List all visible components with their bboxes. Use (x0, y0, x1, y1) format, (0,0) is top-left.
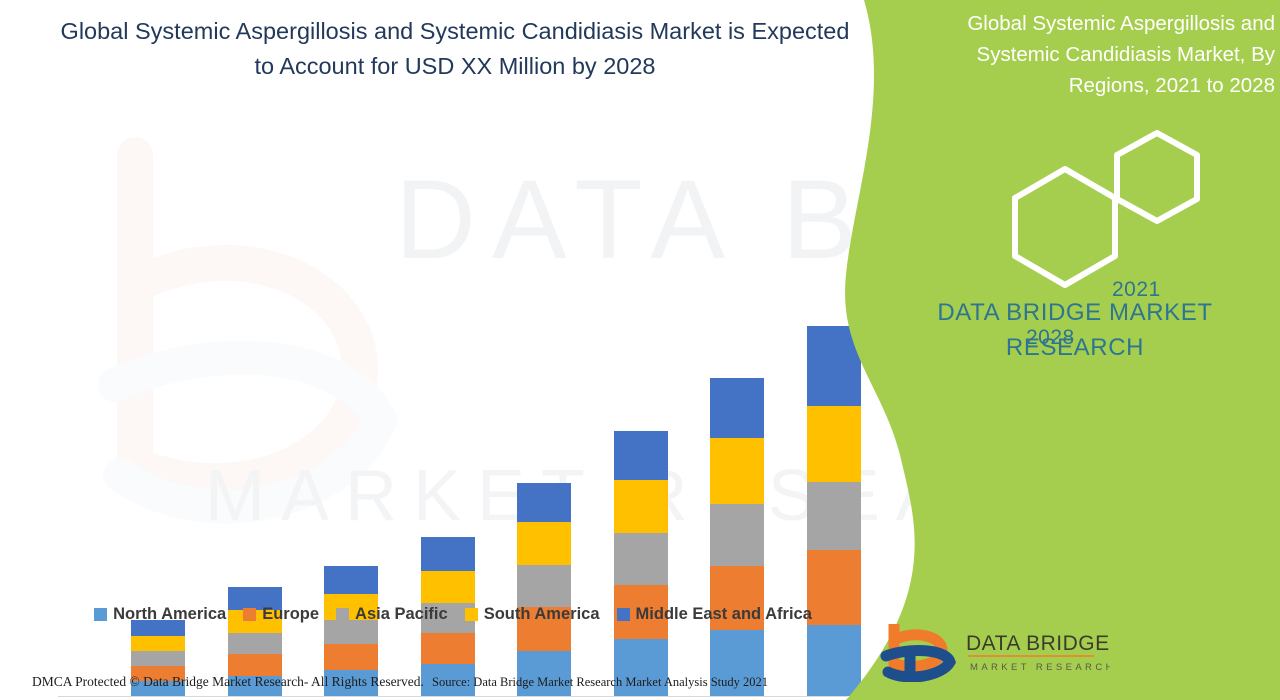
legend-swatch-icon (94, 608, 107, 621)
panel-content: Global Systemic Aspergillosis and System… (880, 0, 1280, 700)
panel-brand-line-1: DATA BRIDGE MARKET (880, 295, 1270, 330)
stacked-bar-chart: 20212022202320242025202620272028 (58, 150, 848, 550)
legend-label: South America (484, 605, 600, 624)
chart-legend: North AmericaEuropeAsia PacificSouth Ame… (58, 605, 848, 624)
legend-label: Asia Pacific (355, 605, 448, 624)
bar-segment-south-america (421, 571, 475, 603)
svg-text:MARKET RESEARCH: MARKET RESEARCH (970, 662, 1110, 673)
page-title: Global Systemic Aspergillosis and System… (60, 14, 850, 84)
legend-label: North America (113, 605, 226, 624)
bar-segment-asia-pacific (710, 504, 764, 566)
data-bridge-logo: DATA BRIDGE MARKET RESEARCH (880, 620, 1110, 682)
bar-segment-asia-pacific (228, 633, 282, 654)
hexagon-badges: 2021 2028 (880, 120, 1270, 295)
bar-segment-middle-east-and-africa (710, 378, 764, 438)
legend-swatch-icon (243, 608, 256, 621)
infographic-canvas: DATA BRIDGE MARKET RESEARCH 202120222023… (0, 0, 1280, 700)
bar-segment-europe (324, 644, 378, 670)
legend-item-north-america[interactable]: North America (94, 605, 226, 624)
bar-segment-europe (421, 633, 475, 664)
footer-source: Source: Data Bridge Market Research Mark… (432, 675, 768, 690)
legend-label: Europe (262, 605, 319, 624)
legend-swatch-icon (465, 608, 478, 621)
svg-text:DATA BRIDGE: DATA BRIDGE (966, 632, 1110, 655)
bar-segment-south-america (131, 636, 185, 651)
footer: DMCA Protected © Data Bridge Market Rese… (0, 672, 850, 700)
bar-segment-middle-east-and-africa (614, 431, 668, 480)
bar-2025 (517, 483, 571, 696)
bar-segment-south-america (517, 522, 571, 565)
legend-item-middle-east-and-africa[interactable]: Middle East and Africa (617, 605, 812, 624)
footer-copyright: DMCA Protected © Data Bridge Market Rese… (32, 674, 424, 690)
legend-label: Middle East and Africa (636, 605, 812, 624)
bar-segment-asia-pacific (614, 533, 668, 585)
bar-segment-south-america (710, 438, 764, 504)
panel-title: Global Systemic Aspergillosis and System… (890, 8, 1275, 101)
bar-2026 (614, 431, 668, 696)
legend-swatch-icon (336, 608, 349, 621)
bar-segment-middle-east-and-africa (421, 537, 475, 571)
bar-2027 (710, 378, 764, 696)
legend-item-europe[interactable]: Europe (243, 605, 319, 624)
legend-item-asia-pacific[interactable]: Asia Pacific (336, 605, 448, 624)
bar-segment-middle-east-and-africa (324, 566, 378, 594)
panel-brand-line-2: RESEARCH (880, 330, 1270, 365)
bar-segment-middle-east-and-africa (517, 483, 571, 522)
bar-segment-asia-pacific (517, 565, 571, 607)
bar-segment-asia-pacific (131, 651, 185, 666)
legend-swatch-icon (617, 608, 630, 621)
panel-brand-name: DATA BRIDGE MARKET RESEARCH (880, 295, 1270, 365)
legend-item-south-america[interactable]: South America (465, 605, 600, 624)
bar-segment-south-america (614, 480, 668, 533)
